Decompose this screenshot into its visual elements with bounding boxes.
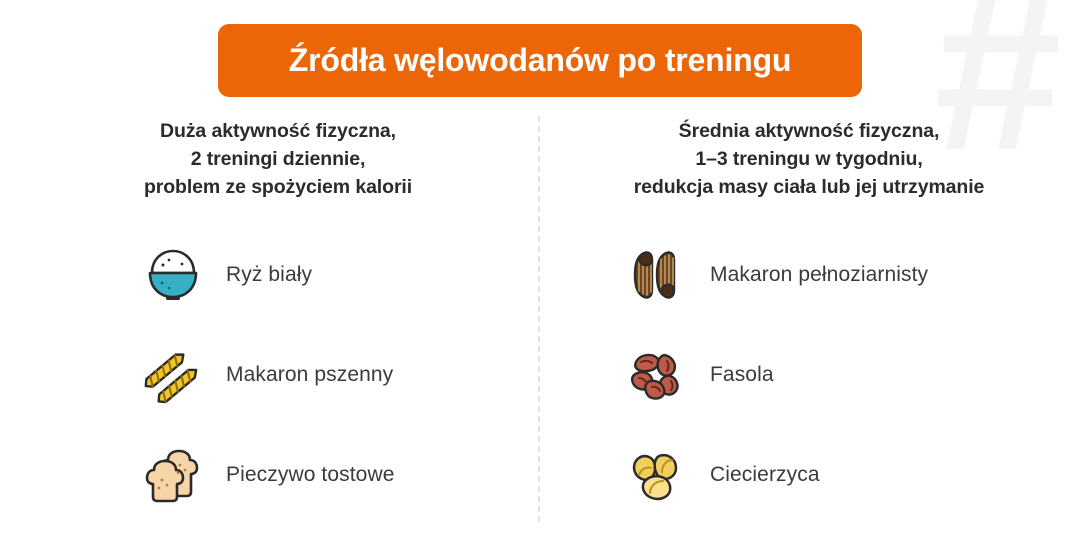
list-item: Makaron pszenny <box>18 325 538 425</box>
wholegrain-pasta-icon <box>624 244 690 306</box>
toast-bread-icon <box>140 444 206 506</box>
wheat-pasta-icon <box>140 344 206 406</box>
list-item: Ciecierzyca <box>538 425 1080 525</box>
heading-line: problem ze spożyciem kalorii <box>18 173 538 201</box>
column-heading-left: Duża aktywność fizyczna, 2 treningi dzie… <box>18 112 538 201</box>
heading-line: Duża aktywność fizyczna, <box>18 117 538 145</box>
item-label: Ryż biały <box>226 263 312 287</box>
list-item: Fasola <box>538 325 1080 425</box>
food-list-left: Ryż biały <box>18 225 538 525</box>
infographic-root: # Źródła węlowodanów po treningu Duża ak… <box>0 0 1080 548</box>
item-label: Makaron pełnoziarnisty <box>710 263 928 287</box>
heading-line: redukcja masy ciała lub jej utrzymanie <box>538 173 1080 201</box>
heading-line: Średnia aktywność fizyczna, <box>538 117 1080 145</box>
columns-container: Duża aktywność fizyczna, 2 treningi dzie… <box>0 112 1080 532</box>
column-medium-activity: Średnia aktywność fizyczna, 1–3 treningu… <box>538 112 1080 532</box>
list-item: Ryż biały <box>18 225 538 325</box>
food-list-right: Makaron pełnoziarnisty <box>538 225 1080 525</box>
beans-icon <box>624 344 690 406</box>
list-item: Pieczywo tostowe <box>18 425 538 525</box>
item-label: Makaron pszenny <box>226 363 393 387</box>
heading-line: 1–3 treningu w tygodniu, <box>538 145 1080 173</box>
column-high-activity: Duża aktywność fizyczna, 2 treningi dzie… <box>0 112 538 532</box>
column-heading-right: Średnia aktywność fizyczna, 1–3 treningu… <box>538 112 1080 201</box>
page-title: Źródła węlowodanów po treningu <box>289 42 791 79</box>
rice-bowl-icon <box>140 244 206 306</box>
title-banner: Źródła węlowodanów po treningu <box>218 24 862 97</box>
list-item: Makaron pełnoziarnisty <box>538 225 1080 325</box>
item-label: Ciecierzyca <box>710 463 820 487</box>
heading-line: 2 treningi dziennie, <box>18 145 538 173</box>
item-label: Pieczywo tostowe <box>226 463 395 487</box>
chickpeas-icon <box>624 444 690 506</box>
item-label: Fasola <box>710 363 774 387</box>
